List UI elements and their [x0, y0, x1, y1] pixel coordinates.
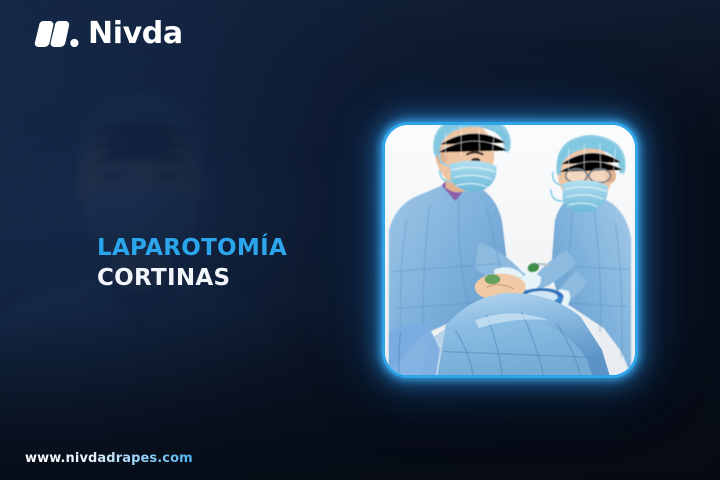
headline-line-2: CORTINAS: [97, 266, 287, 291]
nivda-slash-mark-icon: [33, 21, 79, 47]
surgery-team-laparotomy-drape-photo-icon: [385, 125, 635, 375]
headline-line-1: LAPAROTOMÍA: [97, 236, 287, 261]
product-image-panel[interactable]: [382, 122, 638, 378]
promo-banner: Nivda LAPAROTOMÍA CORTINAS www.nivdadrap…: [0, 0, 720, 480]
website-url[interactable]: www.nivdadrapes.com: [25, 451, 193, 466]
brand-logo[interactable]: Nivda: [33, 19, 183, 49]
brand-name: Nivda: [88, 19, 183, 49]
headline-block: LAPAROTOMÍA CORTINAS: [97, 236, 287, 291]
